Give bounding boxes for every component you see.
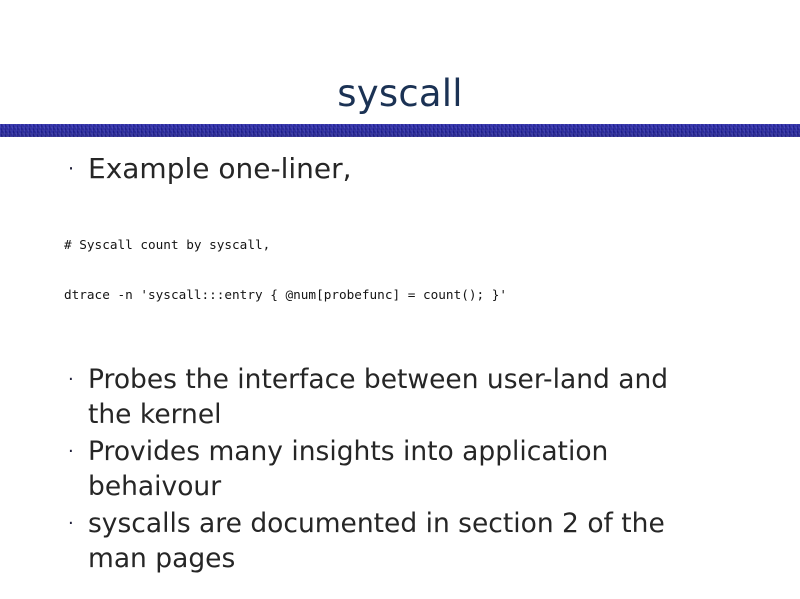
list-item: · Probes the interface between user-land… bbox=[58, 362, 800, 432]
lead-bullet-label: Example one-liner, bbox=[88, 150, 800, 188]
list-item-label: Provides many insights into application … bbox=[88, 434, 766, 504]
bullet-dot-icon: · bbox=[58, 434, 88, 469]
slide-body: · Example one-liner, # Syscall count by … bbox=[0, 150, 800, 578]
bullet-dot-icon: · bbox=[58, 506, 88, 541]
page-title: syscall bbox=[0, 72, 800, 116]
code-block: # Syscall count by syscall, dtrace -n 's… bbox=[64, 204, 800, 336]
list-item: · Provides many insights into applicatio… bbox=[58, 434, 800, 504]
title-divider-bar bbox=[0, 124, 800, 137]
list-item-label: Probes the interface between user-land a… bbox=[88, 362, 766, 432]
list-item-lead: · Example one-liner, bbox=[58, 150, 800, 188]
list-item: · syscalls are documented in section 2 o… bbox=[58, 506, 800, 576]
slide: syscall · Example one-liner, # Syscall c… bbox=[0, 0, 800, 599]
code-line-comment: # Syscall count by syscall, bbox=[64, 237, 800, 254]
list-item-label: syscalls are documented in section 2 of … bbox=[88, 506, 766, 576]
code-line-command: dtrace -n 'syscall:::entry { @num[probef… bbox=[64, 287, 800, 304]
bullet-dot-icon: · bbox=[58, 362, 88, 397]
bullet-list: · Probes the interface between user-land… bbox=[58, 362, 800, 576]
bullet-dot-icon: · bbox=[58, 150, 88, 188]
